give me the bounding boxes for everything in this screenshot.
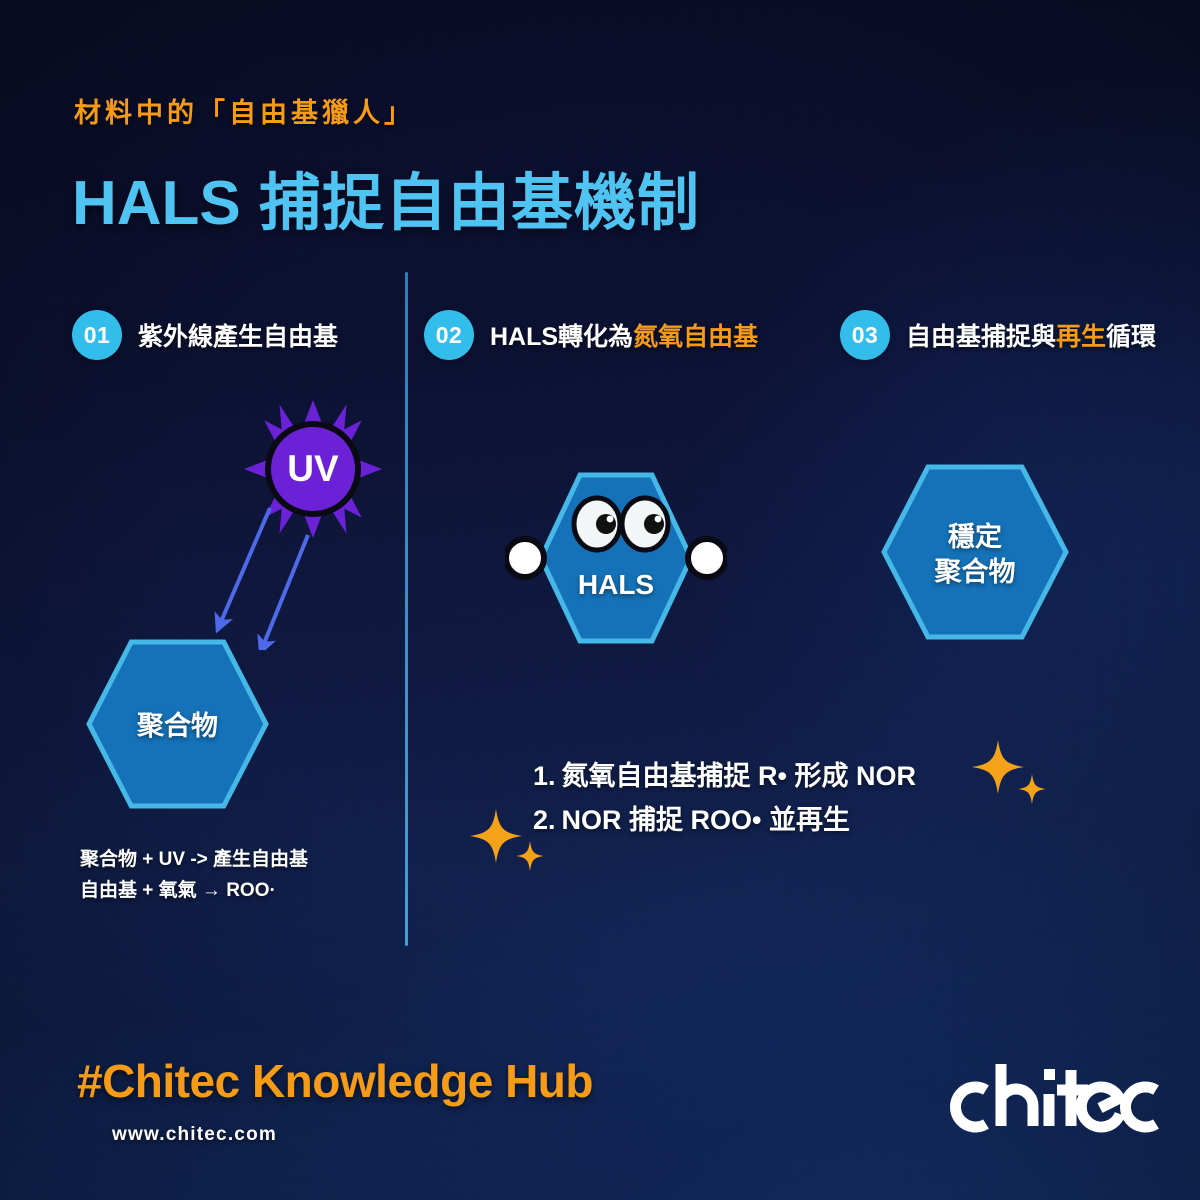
equation-line-1: 聚合物 + UV -> 產生自由基 xyxy=(80,845,308,876)
arrow-2 xyxy=(263,535,308,646)
sparkle-small-icon xyxy=(1018,774,1046,804)
infographic-canvas: 材料中的「自由基獵人」 HALS 捕捉自由基機制 01 紫外線產生自由基 02 … xyxy=(0,0,1200,1200)
step-header-02: 02 HALS轉化為氮氧自由基 xyxy=(424,310,758,360)
page-title-zh: 捕捉自由基機制 xyxy=(241,169,700,238)
step-title-01-text: 紫外線產生自由基 xyxy=(138,323,338,351)
uv-arrows-svg xyxy=(180,490,310,650)
stable-polymer-hexagon: 穩定 聚合物 xyxy=(880,463,1070,646)
page-title-en: HALS xyxy=(72,169,241,238)
hals-eye-right xyxy=(622,498,668,550)
step-header-03: 03 自由基捕捉與再生循環 xyxy=(840,310,1156,360)
sparkle-large-icon xyxy=(972,740,1024,794)
step-title-01: 紫外線產生自由基 xyxy=(138,317,338,353)
step-title-02: HALS轉化為氮氧自由基 xyxy=(490,317,758,353)
step-title-02-highlight: 氮氧自由基 xyxy=(633,323,758,351)
chitec-logo-svg xyxy=(945,1058,1163,1142)
hals-hex-shape xyxy=(541,475,691,641)
step-title-03: 自由基捕捉與再生循環 xyxy=(906,317,1156,353)
step-badge-02: 02 xyxy=(424,310,474,360)
hashtag-text: #Chitec Knowledge Hub xyxy=(77,1054,593,1108)
reaction-list-item-1: 1.氮氧自由基捕捉 R• 形成 NOR xyxy=(533,755,916,799)
step-title-03-post: 循環 xyxy=(1106,323,1156,351)
sparkle-icon-a-svg xyxy=(968,740,1050,810)
sparkle-icon-group-right xyxy=(968,740,1050,815)
arrow-1 xyxy=(220,508,270,624)
sparkle-large-icon xyxy=(470,809,522,863)
sparkle-icon-group-left xyxy=(468,805,550,882)
eyebrow-text: 材料中的「自由基獵人」 xyxy=(74,91,415,130)
polymer-hexagon-svg xyxy=(85,638,270,810)
stable-polymer-hexagon-svg xyxy=(880,463,1070,641)
reaction-item-1-text: 氮氧自由基捕捉 R• 形成 NOR xyxy=(562,761,916,791)
sparkle-small-icon xyxy=(516,841,544,871)
hals-left-node xyxy=(506,539,544,577)
hals-hexagon-svg xyxy=(505,468,727,648)
equation-line-2: 自由基 + 氧氣 → ROO· xyxy=(80,876,308,907)
step-badge-01: 01 xyxy=(72,310,122,360)
page-title: HALS 捕捉自由基機制 xyxy=(72,152,700,242)
reaction-item-1-number: 1. xyxy=(533,761,556,791)
logo-i-dot xyxy=(1044,1069,1055,1080)
step-badge-03: 03 xyxy=(840,310,890,360)
uv-radiation-arrows xyxy=(180,490,310,655)
step-title-02-pre: HALS轉化為 xyxy=(490,323,633,351)
polymer-hexagon: 聚合物 xyxy=(85,638,270,815)
reaction-list: 1.氮氧自由基捕捉 R• 形成 NOR 2.NOR 捕捉 ROO• 並再生 xyxy=(533,755,916,842)
website-url[interactable]: www.chitec.com xyxy=(112,1124,277,1146)
reaction-equations: 聚合物 + UV -> 產生自由基 自由基 + 氧氣 → ROO· xyxy=(80,845,308,907)
section-divider xyxy=(405,272,408,946)
hals-right-node xyxy=(688,539,726,577)
hals-eye-left xyxy=(574,498,620,550)
step-title-03-pre: 自由基捕捉與 xyxy=(906,323,1056,351)
reaction-item-2-text: NOR 捕捉 ROO• 並再生 xyxy=(562,805,850,835)
reaction-list-item-2: 2.NOR 捕捉 ROO• 並再生 xyxy=(533,799,916,843)
step-title-03-highlight: 再生 xyxy=(1056,323,1106,351)
chitec-logo xyxy=(945,1058,1163,1147)
sparkle-icon-b-svg xyxy=(468,805,550,877)
step-header-01: 01 紫外線產生自由基 xyxy=(72,310,338,360)
hals-hexagon: HALS xyxy=(505,468,727,653)
